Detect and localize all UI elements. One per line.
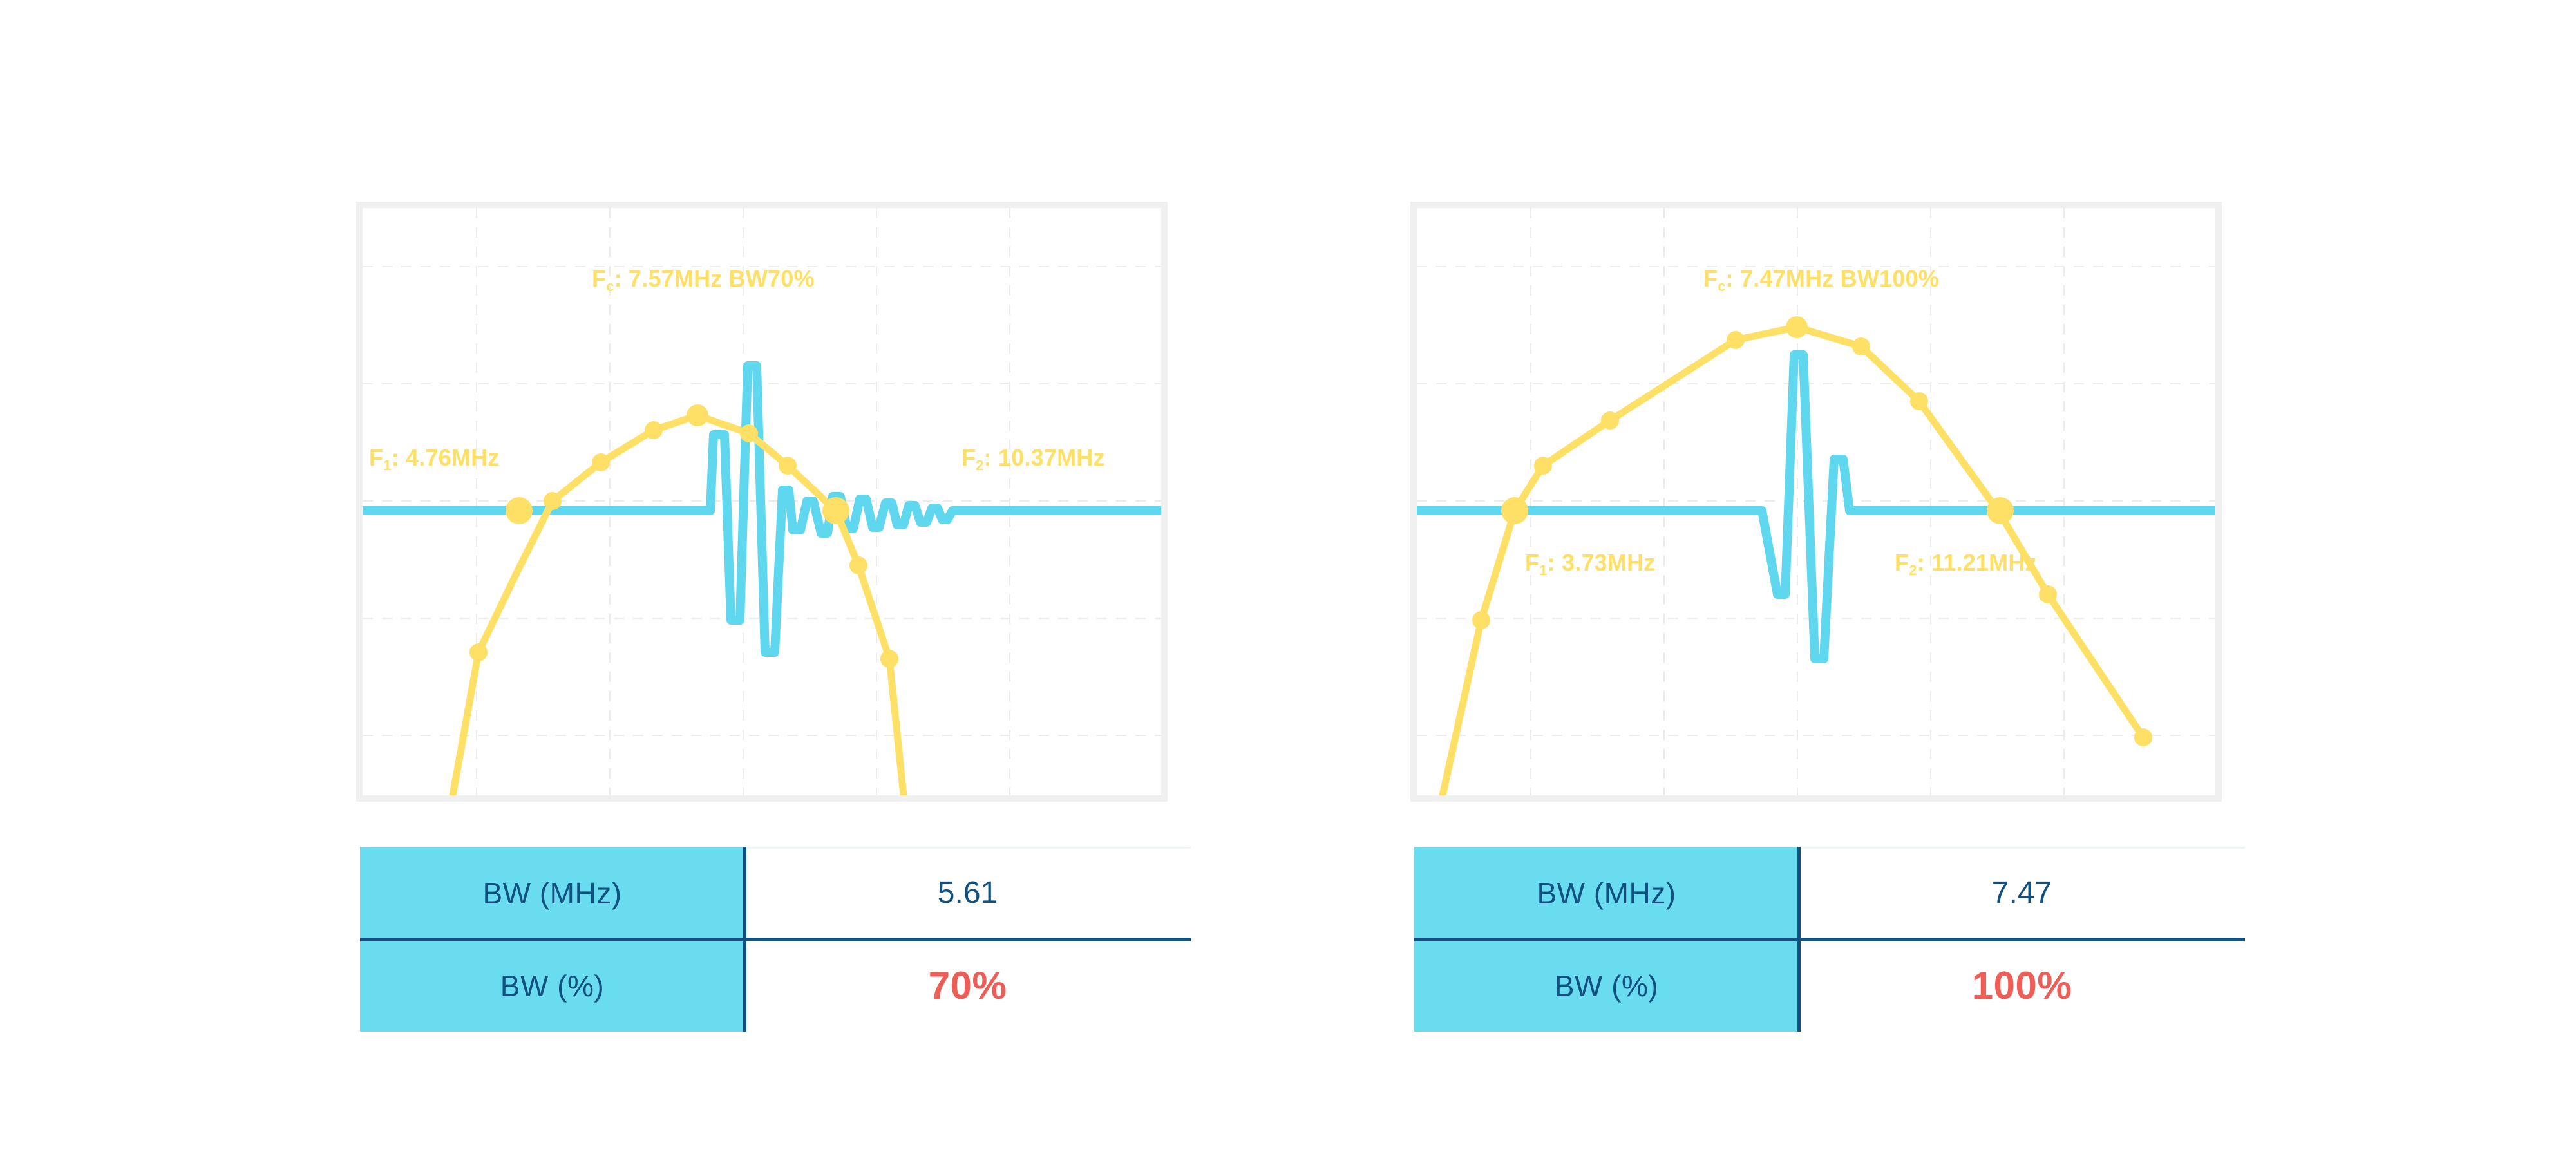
table-column-rule <box>1797 847 1801 1032</box>
center-frequency-label-right: Fc: 7.47MHz BW100% <box>1703 267 1939 290</box>
grid-lines-right <box>1417 208 2215 795</box>
bw-percent-value: 70% <box>929 963 1007 1008</box>
pulse-trace-left <box>363 366 1161 652</box>
pulse-trace-right <box>1417 355 2215 659</box>
row-value-bw-mhz: 7.47 <box>1799 847 2245 939</box>
f2-label-left: F2: 10.37MHz <box>961 446 1105 469</box>
plot-area-left: Fc: 7.57MHz BW70% F1: 4.76MHz F2: 10.37M… <box>363 208 1161 795</box>
table-middle-rule <box>1414 938 2245 941</box>
row-value-bw-mhz: 5.61 <box>744 847 1191 939</box>
row-header-bw-percent: BW (%) <box>360 940 744 1032</box>
panel-right: Fc: 7.47MHz BW100% F1: 3.73MHz F2: 11.21… <box>1410 202 2222 802</box>
row-header-bw-percent: BW (%) <box>1414 940 1799 1032</box>
center-frequency-label-left: Fc: 7.57MHz BW70% <box>592 267 815 290</box>
f2-label-right: F2: 11.21MHz <box>1895 551 2037 574</box>
figure-root: Fc: 7.57MHz BW70% F1: 4.76MHz F2: 10.37M… <box>0 0 2576 1154</box>
table-row: BW (%) 70% <box>360 940 1191 1032</box>
f1-marker-right <box>1501 497 1528 524</box>
f2-marker-right <box>1987 497 2014 524</box>
plot-svg-right <box>1417 208 2215 795</box>
results-table-right: BW (MHz) 7.47 BW (%) 100% <box>1414 847 2245 1032</box>
f2-marker-left <box>822 497 849 524</box>
bw-mhz-value: 7.47 <box>1992 875 2052 911</box>
table-top-rule <box>1799 847 2245 849</box>
plot-area-right: Fc: 7.47MHz BW100% F1: 3.73MHz F2: 11.21… <box>1417 208 2215 795</box>
plot-svg-left <box>363 208 1161 795</box>
row-header-bw-mhz: BW (MHz) <box>1414 847 1799 939</box>
spectrum-trace-left <box>453 415 904 795</box>
row-value-bw-percent: 70% <box>744 940 1191 1032</box>
table-row: BW (%) 100% <box>1414 940 2245 1032</box>
table-row: BW (MHz) 5.61 <box>360 847 1191 939</box>
bw-mhz-value: 5.61 <box>938 875 998 911</box>
f1-label-right: F1: 3.73MHz <box>1525 551 1655 574</box>
table-row: BW (MHz) 7.47 <box>1414 847 2245 939</box>
row-header-bw-mhz: BW (MHz) <box>360 847 744 939</box>
bw-percent-value: 100% <box>1972 963 2072 1008</box>
panel-left: Fc: 7.57MHz BW70% F1: 4.76MHz F2: 10.37M… <box>356 202 1168 802</box>
plot-frame-right: Fc: 7.47MHz BW100% F1: 3.73MHz F2: 11.21… <box>1410 202 2222 802</box>
table-top-rule <box>744 847 1191 849</box>
row-value-bw-percent: 100% <box>1799 940 2245 1032</box>
f1-marker-left <box>506 497 533 524</box>
results-table-left: BW (MHz) 5.61 BW (%) 70% <box>360 847 1191 1032</box>
table-middle-rule <box>360 938 1191 941</box>
f1-label-left: F1: 4.76MHz <box>369 446 499 469</box>
plot-frame-left: Fc: 7.57MHz BW70% F1: 4.76MHz F2: 10.37M… <box>356 202 1168 802</box>
table-column-rule <box>743 847 746 1032</box>
